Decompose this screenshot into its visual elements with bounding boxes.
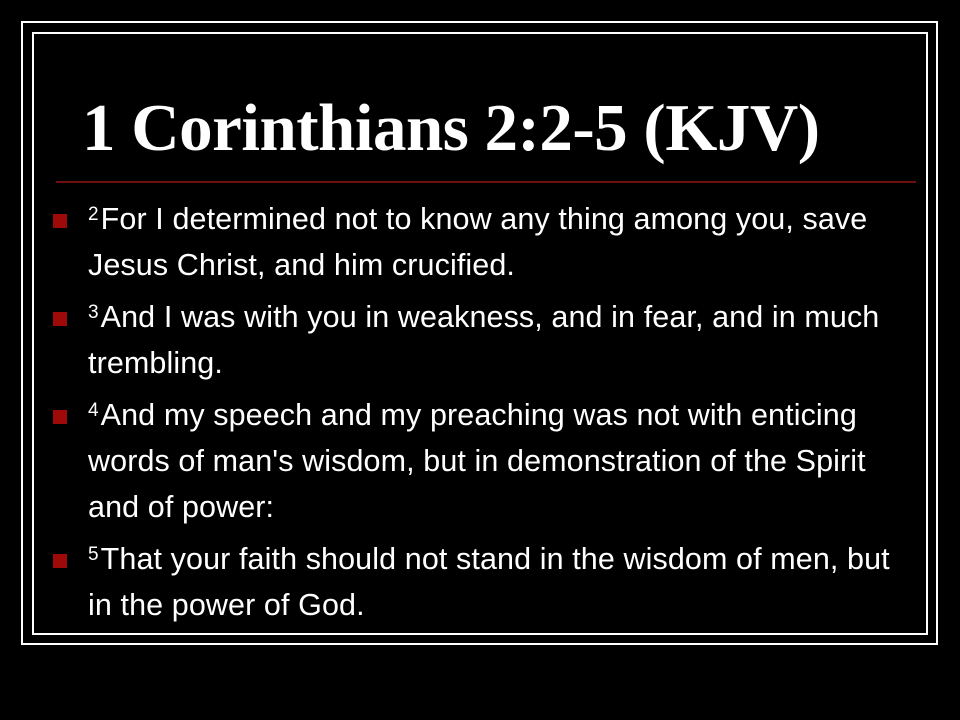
- square-bullet-icon: [53, 312, 67, 326]
- list-item: 3And I was with you in weakness, and in …: [52, 294, 918, 386]
- verse-number: 5: [88, 544, 101, 565]
- square-bullet-icon: [53, 410, 67, 424]
- verse-list: 2For I determined not to know any thing …: [52, 196, 918, 634]
- verse-number: 2: [88, 204, 101, 225]
- verse-text: That your faith should not stand in the …: [88, 542, 890, 622]
- square-bullet-icon: [53, 554, 67, 568]
- verse-number: 4: [88, 400, 101, 421]
- presentation-slide: 1 Corinthians 2:2-5 (KJV) 2For I determi…: [0, 0, 960, 720]
- list-item: 4And my speech and my preaching was not …: [52, 392, 918, 530]
- slide-title: 1 Corinthians 2:2-5 (KJV): [82, 92, 922, 164]
- verse-text: And I was with you in weakness, and in f…: [88, 300, 879, 380]
- title-divider-rule: [56, 181, 916, 183]
- verse-number: 3: [88, 302, 101, 323]
- verse-text: For I determined not to know any thing a…: [88, 202, 867, 282]
- list-item: 5That your faith should not stand in the…: [52, 536, 918, 628]
- list-item: 2For I determined not to know any thing …: [52, 196, 918, 288]
- verse-text: And my speech and my preaching was not w…: [88, 398, 866, 524]
- square-bullet-icon: [53, 214, 67, 228]
